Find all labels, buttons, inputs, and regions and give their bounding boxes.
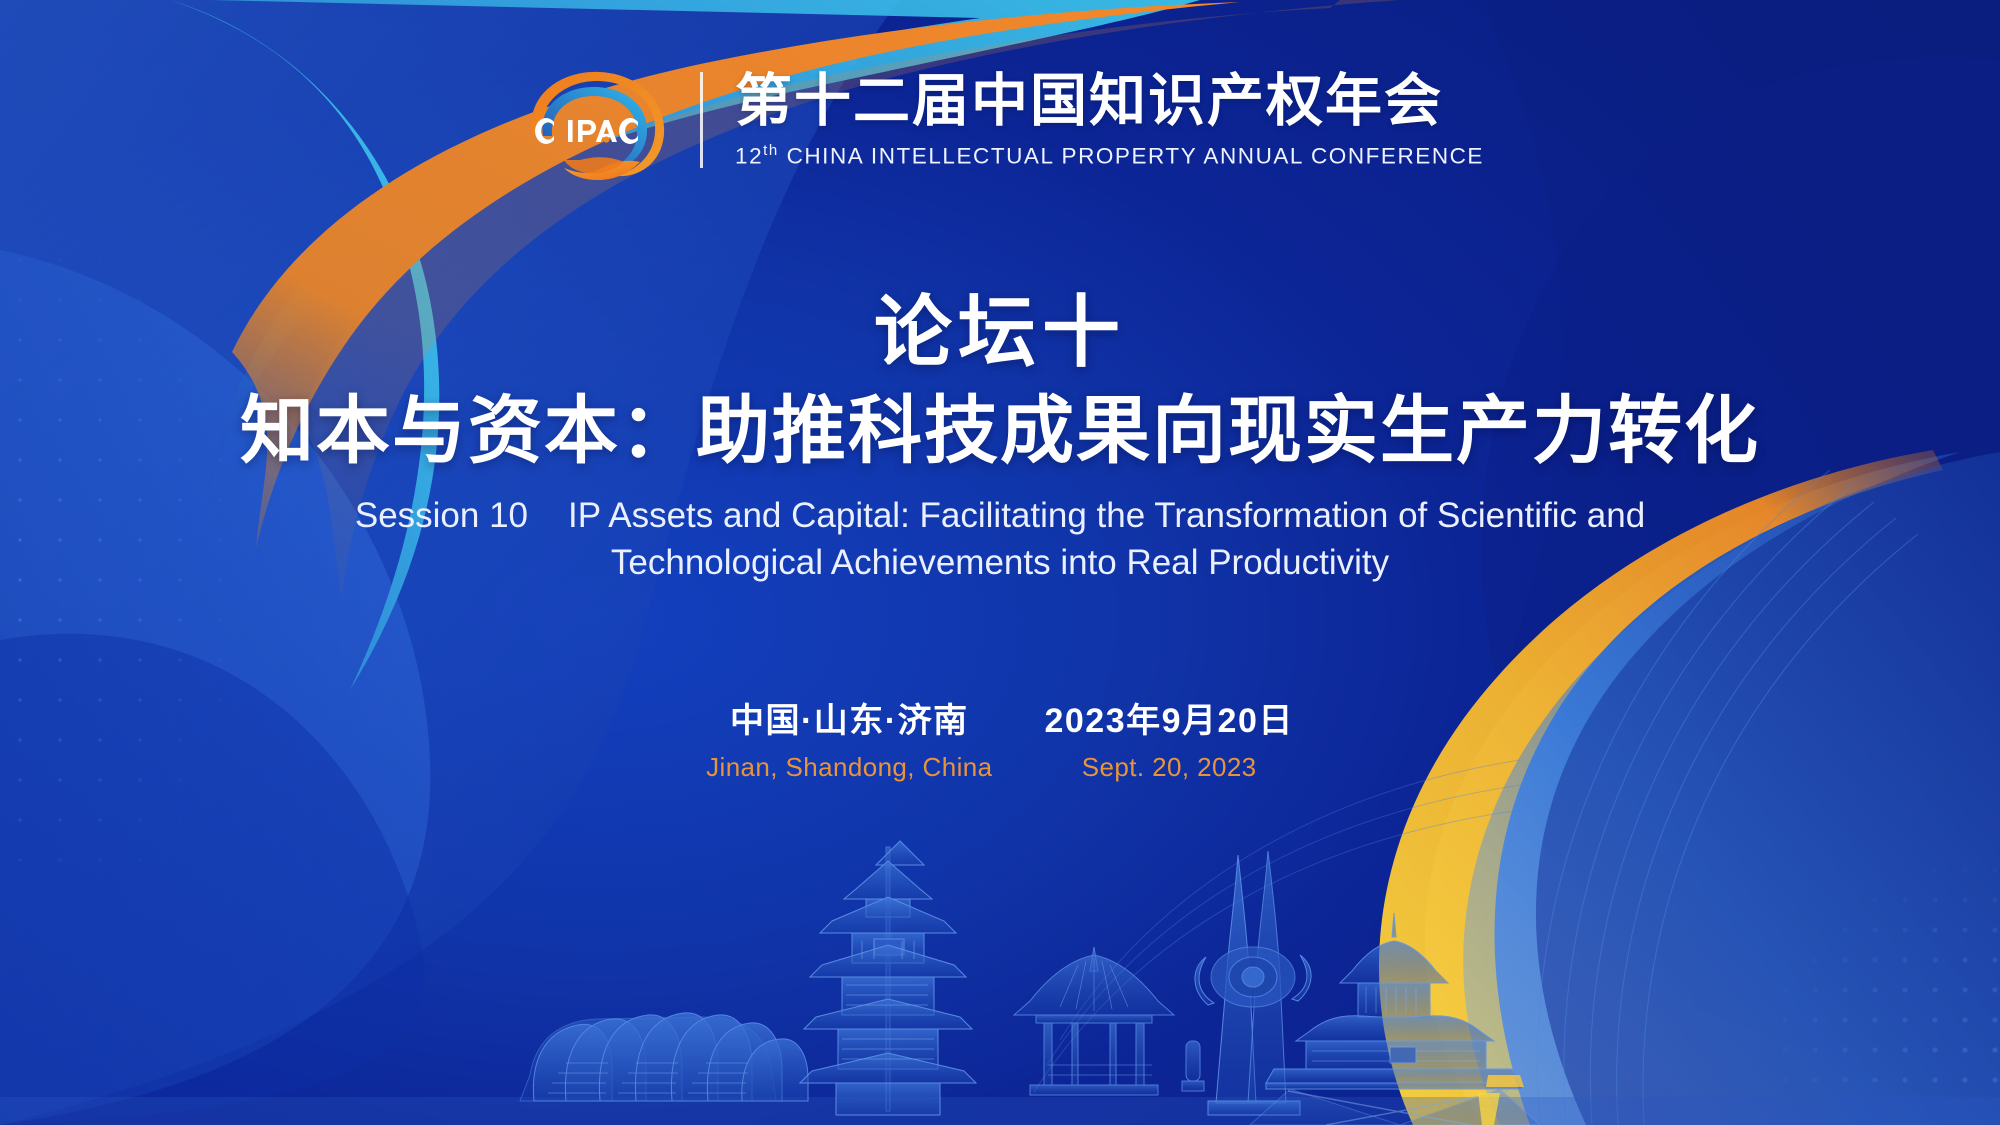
conference-titles: 第十二届中国知识产权年会 12th CHINA INTELLECTUAL PRO… <box>735 71 1484 169</box>
venue-column: 中国·山东·济南 Jinan, Shandong, China <box>706 700 992 783</box>
date-en: Sept. 20, 2023 <box>1044 752 1293 783</box>
session-number-en: Session 10 <box>355 496 528 535</box>
conference-backdrop: 第十二届中国知识产权年会 12th CHINA INTELLECTUAL PRO… <box>0 0 2000 1125</box>
pagoda-silhouette <box>800 841 976 1115</box>
session-english-line-2: Technological Achievements into Real Pro… <box>320 539 1680 586</box>
conference-title-en-text: CHINA INTELLECTUAL PROPERTY ANNUAL CONFE… <box>787 143 1484 168</box>
venue-en: Jinan, Shandong, China <box>706 752 992 783</box>
conference-title-cn: 第十二届中国知识产权年会 <box>735 71 1484 133</box>
venue-cn: 中国·山东·济南 <box>706 700 992 743</box>
session-english: Session 10IP Assets and Capital: Facilit… <box>320 492 1680 587</box>
session-topic-cn: 知本与资本：助推科技成果向现实生产力转化 <box>0 386 2000 476</box>
city-skyline-silhouette <box>0 825 2000 1125</box>
session-number-cn: 论坛十 <box>0 290 2000 376</box>
pavilion-silhouette <box>1014 947 1204 1095</box>
cipac-swirl-logo <box>516 60 676 180</box>
conference-ordinal-suffix: th <box>763 142 779 159</box>
conference-ordinal-number: 12 <box>735 143 763 168</box>
conference-header: 第十二届中国知识产权年会 12th CHINA INTELLECTUAL PRO… <box>0 60 2000 180</box>
session-english-line-1: Session 10IP Assets and Capital: Facilit… <box>320 492 1680 539</box>
session-block: 论坛十 知本与资本：助推科技成果向现实生产力转化 Session 10IP As… <box>0 290 2000 587</box>
arena-silhouette <box>520 1013 808 1101</box>
header-divider <box>700 72 703 168</box>
date-cn: 2023年9月20日 <box>1044 700 1293 743</box>
gate-hall-silhouette <box>1250 913 1540 1125</box>
date-column: 2023年9月20日 Sept. 20, 2023 <box>1044 700 1293 783</box>
session-topic-en-part-1: IP Assets and Capital: Facilitating the … <box>568 496 1645 535</box>
conference-title-en: 12th CHINA INTELLECTUAL PROPERTY ANNUAL … <box>735 142 1484 170</box>
venue-date-block: 中国·山东·济南 Jinan, Shandong, China 2023年9月2… <box>0 700 2000 783</box>
